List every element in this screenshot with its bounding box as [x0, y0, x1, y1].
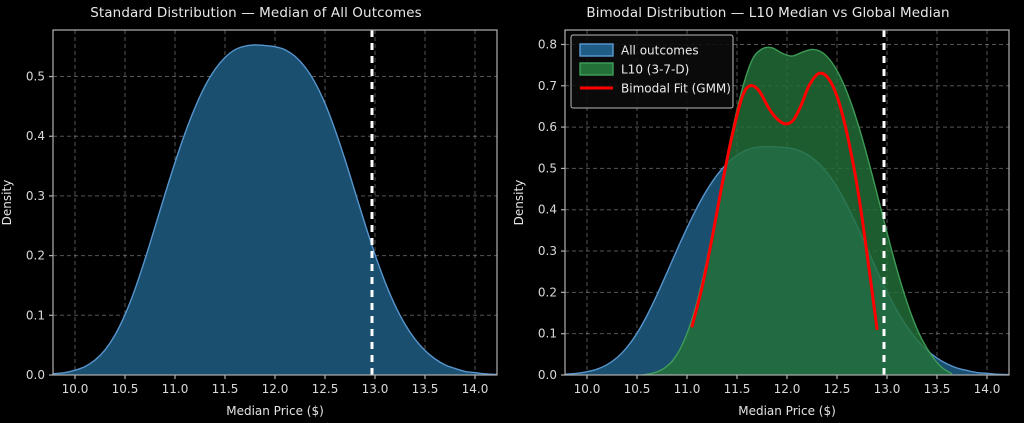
- chart-legend[interactable]: All outcomesL10 (3-7-D)Bimodal Fit (GMM): [571, 35, 733, 108]
- yaxis-label: Density: [0, 180, 14, 226]
- panel-bimodal-distribution: Bimodal Distribution — L10 Median vs Glo…: [512, 0, 1024, 423]
- legend-swatch-icon: [580, 63, 613, 75]
- xtick-label-11.5: 11.5: [212, 382, 239, 396]
- ytick-label-0.0: 0.0: [538, 368, 557, 382]
- xtick-label-12.0: 12.0: [774, 382, 801, 396]
- legend-item-all-outcomes[interactable]: All outcomes: [580, 44, 699, 58]
- xtick-label-10.0: 10.0: [62, 382, 89, 396]
- xtick-label-14.0: 14.0: [974, 382, 1001, 396]
- ytick-label-0.1: 0.1: [538, 327, 557, 341]
- figure-canvas: Standard Distribution — Median of All Ou…: [0, 0, 1024, 423]
- legend-label: All outcomes: [621, 44, 699, 58]
- xtick-label-13.0: 13.0: [874, 382, 901, 396]
- xtick-label-14.0: 14.0: [462, 382, 489, 396]
- legend-swatch-icon: [580, 44, 613, 56]
- xtick-label-10.0: 10.0: [574, 382, 601, 396]
- xtick-label-10.5: 10.5: [624, 382, 651, 396]
- ytick-label-0.2: 0.2: [538, 285, 557, 299]
- xtick-label-11.0: 11.0: [162, 382, 189, 396]
- ytick-label-0.4: 0.4: [26, 129, 45, 143]
- xaxis-label: Median Price ($): [738, 404, 836, 418]
- ytick-label-0.2: 0.2: [26, 249, 45, 263]
- xtick-label-13.0: 13.0: [362, 382, 389, 396]
- ytick-label-0.3: 0.3: [538, 244, 557, 258]
- xtick-label-11.0: 11.0: [674, 382, 701, 396]
- xtick-label-12.5: 12.5: [312, 382, 339, 396]
- ytick-label-0.4: 0.4: [538, 203, 557, 217]
- plot-left: 10.010.511.011.512.012.513.013.514.00.00…: [0, 0, 512, 423]
- xtick-label-11.5: 11.5: [724, 382, 751, 396]
- xtick-label-10.5: 10.5: [112, 382, 139, 396]
- yaxis-label: Density: [512, 180, 526, 226]
- ytick-label-0.5: 0.5: [26, 70, 45, 84]
- legend-label: Bimodal Fit (GMM): [621, 82, 731, 96]
- ytick-label-0.7: 0.7: [538, 79, 557, 93]
- ytick-label-0.8: 0.8: [538, 37, 557, 51]
- panel-standard-distribution: Standard Distribution — Median of All Ou…: [0, 0, 512, 423]
- legend-label: L10 (3-7-D): [621, 63, 689, 77]
- xtick-label-13.5: 13.5: [924, 382, 951, 396]
- xtick-label-13.5: 13.5: [412, 382, 439, 396]
- ytick-label-0.3: 0.3: [26, 189, 45, 203]
- ytick-label-0.6: 0.6: [538, 120, 557, 134]
- xtick-label-12.5: 12.5: [824, 382, 851, 396]
- plot-right: 10.010.511.011.512.012.513.013.514.00.00…: [512, 0, 1024, 423]
- xtick-label-12.0: 12.0: [262, 382, 289, 396]
- ytick-label-0.1: 0.1: [26, 308, 45, 322]
- xaxis-label: Median Price ($): [226, 404, 324, 418]
- legend-item-l10-3-7-d[interactable]: L10 (3-7-D): [580, 63, 689, 77]
- ytick-label-0.0: 0.0: [26, 368, 45, 382]
- ytick-label-0.5: 0.5: [538, 161, 557, 175]
